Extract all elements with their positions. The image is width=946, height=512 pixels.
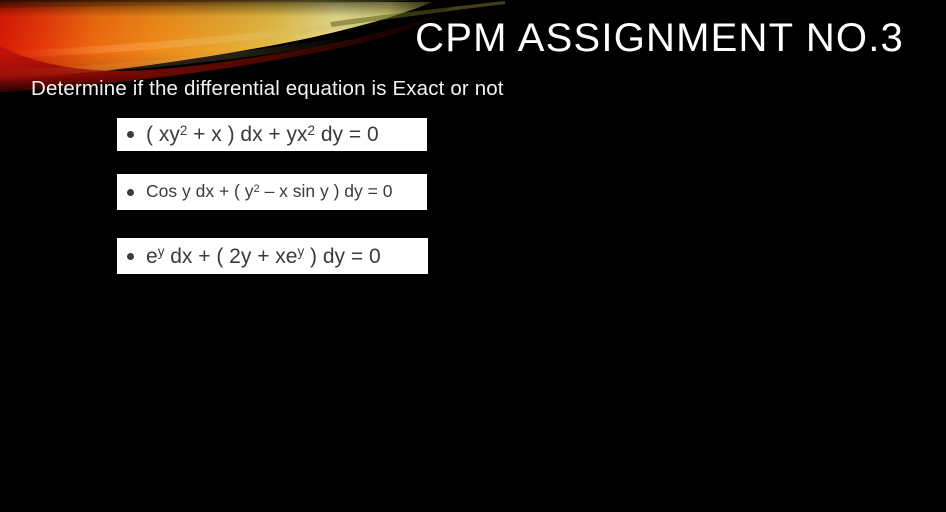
bullet-icon — [127, 189, 134, 196]
bullet-icon — [127, 131, 134, 138]
slide-subtitle: Determine if the differential equation i… — [31, 77, 504, 101]
slide-title: CPM ASSIGNMENT NO.3 — [415, 16, 904, 60]
equation-box-1: ( xy2 + x ) dx + yx2 dy = 0 — [117, 118, 427, 151]
equation-2-text: Cos y dx + ( y2 – x sin y ) dy = 0 — [146, 183, 392, 201]
equation-1-text: ( xy2 + x ) dx + yx2 dy = 0 — [146, 124, 379, 145]
bullet-icon — [127, 253, 134, 260]
equation-3-text: ey dx + ( 2y + xey ) dy = 0 — [146, 246, 381, 267]
presentation-slide: CPM ASSIGNMENT NO.3 Determine if the dif… — [0, 0, 946, 512]
equation-box-2: Cos y dx + ( y2 – x sin y ) dy = 0 — [117, 174, 427, 210]
equation-box-3: ey dx + ( 2y + xey ) dy = 0 — [117, 238, 428, 274]
